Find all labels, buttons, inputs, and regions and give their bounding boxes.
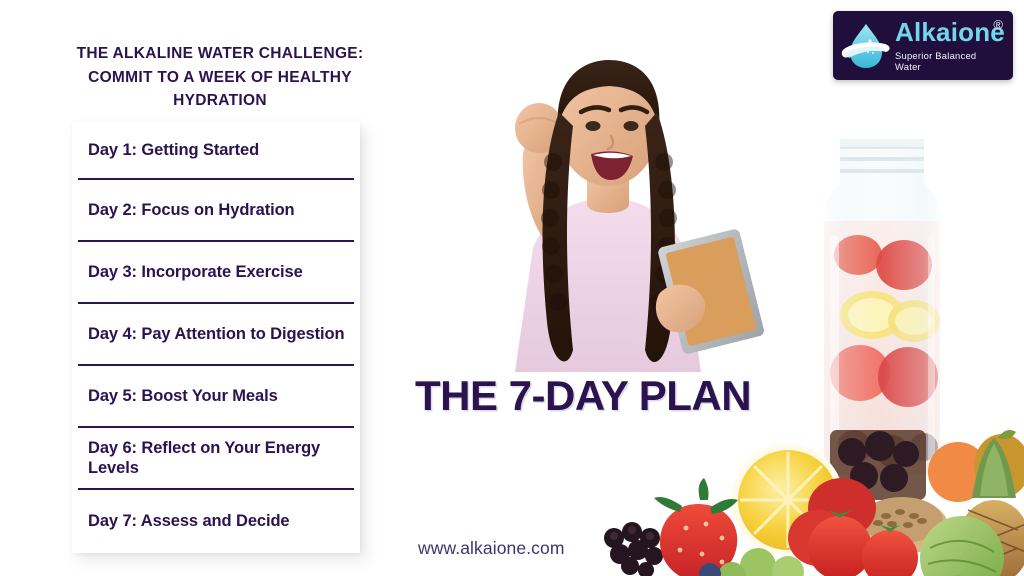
fruit-infused-water-bottle-photo xyxy=(800,125,1005,475)
plan-item-label: Day 5: Boost Your Meals xyxy=(88,386,278,406)
plan-item-label: Day 7: Assess and Decide xyxy=(88,511,290,531)
hero-title: THE 7-DAY PLAN xyxy=(415,372,751,420)
plan-item-label: Day 4: Pay Attention to Digestion xyxy=(88,324,344,344)
list-item[interactable]: Day 5: Boost Your Meals xyxy=(78,366,354,428)
plan-item-label: Day 1: Getting Started xyxy=(88,140,259,160)
logo-text-block: Alkaione ® Superior Balanced Water xyxy=(895,19,1005,72)
registered-trademark-icon: ® xyxy=(993,17,1003,32)
headline-line-2: Commit to a Week of Healthy xyxy=(50,66,390,90)
brand-logo[interactable]: Alkaione ® Superior Balanced Water xyxy=(833,11,1013,80)
plan-item-label: Day 3: Incorporate Exercise xyxy=(88,262,303,282)
page-title: The Alkaline Water Challenge: Commit to … xyxy=(50,42,390,113)
logo-brand-name: Alkaione xyxy=(895,19,1005,45)
water-drop-icon xyxy=(839,19,893,73)
poster-canvas: The Alkaline Water Challenge: Commit to … xyxy=(0,0,1024,576)
headline-line-3: Hydration xyxy=(50,89,390,113)
seven-day-plan-card: Day 1: Getting Started Day 2: Focus on H… xyxy=(72,122,360,553)
plan-list: Day 1: Getting Started Day 2: Focus on H… xyxy=(72,122,360,553)
list-item[interactable]: Day 4: Pay Attention to Digestion xyxy=(78,304,354,366)
list-item[interactable]: Day 6: Reflect on Your Energy Levels xyxy=(78,428,354,490)
headline-line-1: The Alkaline Water Challenge: xyxy=(50,42,390,66)
plan-item-label: Day 2: Focus on Hydration xyxy=(88,200,295,220)
list-item[interactable]: Day 2: Focus on Hydration xyxy=(78,180,354,242)
logo-tagline: Superior Balanced Water xyxy=(895,50,1005,72)
list-item[interactable]: Day 7: Assess and Decide xyxy=(78,490,354,553)
excited-woman-holding-tablet-photo xyxy=(455,42,765,382)
list-item[interactable]: Day 1: Getting Started xyxy=(78,122,354,180)
website-url[interactable]: www.alkaione.com xyxy=(418,538,565,559)
plan-item-label: Day 6: Reflect on Your Energy Levels xyxy=(88,438,350,478)
list-item[interactable]: Day 3: Incorporate Exercise xyxy=(78,242,354,304)
assorted-fresh-fruit-and-vegetables-photo xyxy=(590,430,1024,576)
